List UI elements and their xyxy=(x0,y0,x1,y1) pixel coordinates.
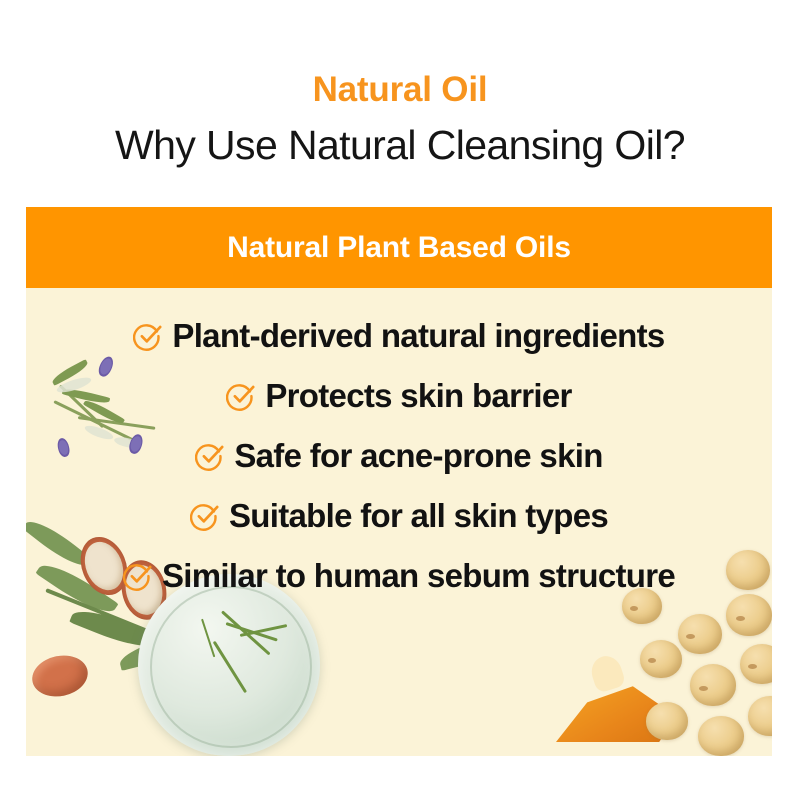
list-item: Plant-derived natural ingredients xyxy=(133,306,664,366)
list-item: Safe for acne-prone skin xyxy=(195,426,602,486)
list-item: Similar to human sebum structure xyxy=(123,546,675,606)
list-item-label: Plant-derived natural ingredients xyxy=(172,317,664,355)
list-item-label: Safe for acne-prone skin xyxy=(234,437,602,475)
list-item-label: Protects skin barrier xyxy=(265,377,571,415)
page-title: Why Use Natural Cleansing Oil? xyxy=(0,122,800,169)
check-circle-icon xyxy=(195,441,225,471)
check-circle-icon xyxy=(190,501,220,531)
check-circle-icon xyxy=(133,321,163,351)
panel-header-title: Natural Plant Based Oils xyxy=(227,231,571,265)
check-circle-icon xyxy=(226,381,256,411)
benefits-panel: Natural Plant Based Oils xyxy=(26,207,772,756)
eyebrow-title: Natural Oil xyxy=(0,70,800,110)
infographic-page: Natural Oil Why Use Natural Cleansing Oi… xyxy=(0,0,800,800)
panel-header: Natural Plant Based Oils xyxy=(26,207,772,288)
check-circle-icon xyxy=(123,561,153,591)
list-item-label: Similar to human sebum structure xyxy=(162,557,675,595)
list-item: Suitable for all skin types xyxy=(190,486,608,546)
panel-body: Plant-derived natural ingredients Protec… xyxy=(26,288,772,756)
list-item: Protects skin barrier xyxy=(226,366,571,426)
list-item-label: Suitable for all skin types xyxy=(229,497,608,535)
benefits-list: Plant-derived natural ingredients Protec… xyxy=(26,288,772,606)
